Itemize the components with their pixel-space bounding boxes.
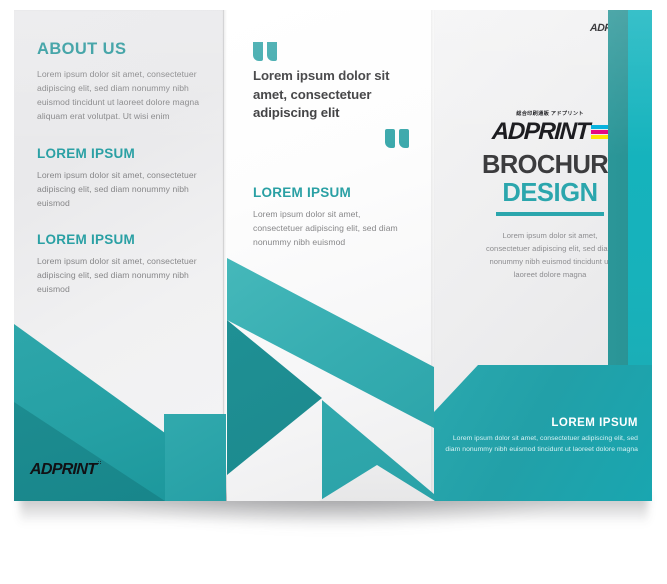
cover-footer-body: Lorem ipsum dolor sit amet, consectetuer… xyxy=(442,433,638,455)
geo-left-strip xyxy=(164,414,226,501)
panel-left-logo-text: ADPRINT xyxy=(30,461,97,478)
cover-footer-block: LOREM IPSUM Lorem ipsum dolor sit amet, … xyxy=(442,417,638,455)
panel-left-bottom-logo: ADPRINT:: xyxy=(30,461,102,479)
mockup-stage: ABOUT US Lorem ipsum dolor sit amet, con… xyxy=(0,0,667,584)
cover-footer-heading: LOREM IPSUM xyxy=(442,417,638,429)
trifold-brochure: ABOUT US Lorem ipsum dolor sit amet, con… xyxy=(14,10,652,501)
panel-left-logo-dots: :: xyxy=(97,461,101,466)
